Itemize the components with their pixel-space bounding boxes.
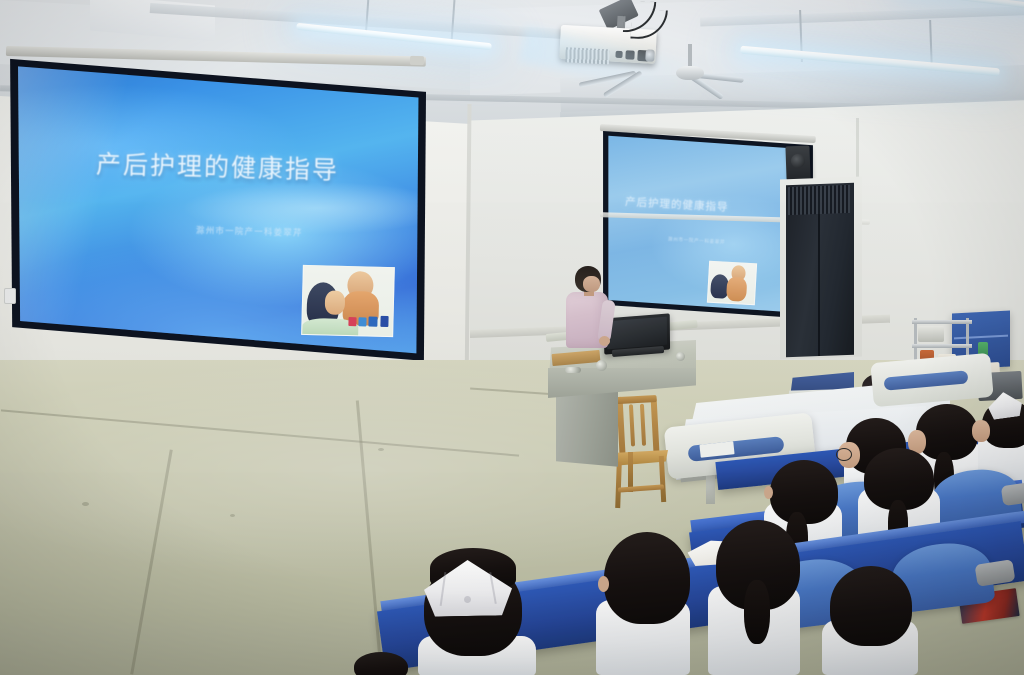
wall-speaker xyxy=(785,146,810,181)
projector-lens xyxy=(645,49,655,61)
wooden-chair-back xyxy=(617,395,662,455)
podium-knob-1[interactable] xyxy=(596,360,607,371)
wall-switch[interactable] xyxy=(4,288,16,304)
cart-shelf-top xyxy=(912,320,972,324)
audience-hair xyxy=(830,566,912,646)
audience-ponytail xyxy=(744,580,770,644)
door-ventilation-grille xyxy=(788,185,850,215)
cart-item-tray xyxy=(918,326,944,342)
audience-face xyxy=(972,420,990,442)
audience-ear xyxy=(598,576,609,592)
main-slide-title: 产后护理的健康指导 xyxy=(96,145,361,188)
podium-knob-2[interactable] xyxy=(676,352,685,361)
podium-handle[interactable] xyxy=(565,367,581,373)
audience-ear xyxy=(764,486,773,499)
presenter-face xyxy=(583,276,600,292)
audience-hair xyxy=(770,460,838,524)
door-center-split xyxy=(818,214,820,356)
audience-seat-arm-mid-2 xyxy=(1001,482,1024,506)
floor-mark-2 xyxy=(230,514,235,517)
audience-hair xyxy=(354,652,408,675)
slide-photo-logo-3 xyxy=(368,317,377,327)
chair-back-post-right xyxy=(651,397,660,453)
ceiling-fan xyxy=(640,62,744,108)
cart-shelf-mid xyxy=(912,344,972,348)
fan-down-rod xyxy=(688,44,692,68)
chair-back-slat-2 xyxy=(640,404,646,446)
projector-port-2 xyxy=(625,50,634,59)
slide-photo-logo-4 xyxy=(380,316,388,327)
secondary-slide-photo xyxy=(707,261,757,306)
classroom-scene: 产后护理的健康指导 滁州市一院产一科姜翠芹 产后护理的健康指导 滁州市一院产一科… xyxy=(0,0,1024,675)
floor-mark-1 xyxy=(82,502,89,506)
audience-glasses xyxy=(836,448,852,461)
speaker-cone xyxy=(791,154,805,168)
slide-photo-logo-2 xyxy=(358,317,366,326)
secondary-photo-body xyxy=(726,277,747,302)
audience-hair xyxy=(604,532,690,624)
projector-vent xyxy=(565,47,610,64)
slide-photo-logo-1 xyxy=(348,317,356,326)
floor-mark-3 xyxy=(378,448,384,451)
projection-screen-roller-cap xyxy=(410,56,424,65)
main-slide-photo xyxy=(301,265,395,337)
projector-port-1 xyxy=(615,51,622,58)
podium-monitor-screen xyxy=(607,317,667,350)
chair-back-slat-1 xyxy=(629,404,635,446)
presenter-hand xyxy=(599,336,610,346)
nurse-cap-center-mark xyxy=(464,596,471,603)
fan-motor-housing xyxy=(676,66,704,80)
slide-photo-mother-face xyxy=(325,290,346,314)
projector-cable-2 xyxy=(630,9,668,41)
